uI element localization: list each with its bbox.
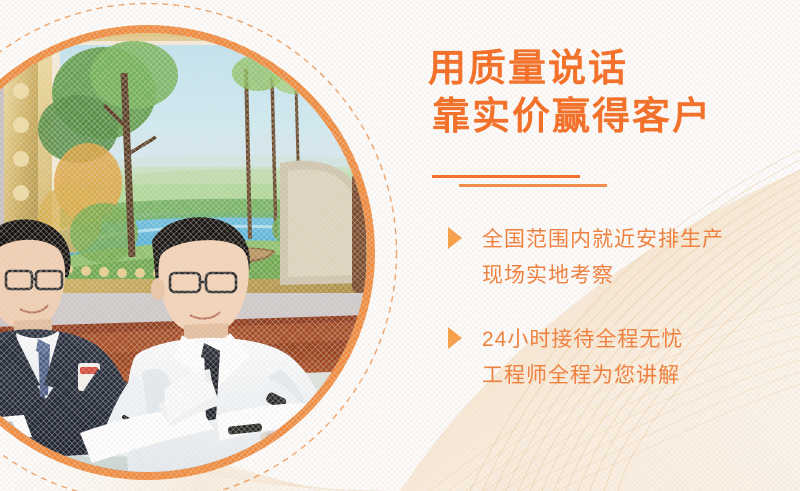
feature-line: 现场实地考察 bbox=[482, 258, 800, 294]
headline-block: 用质量说话 靠实价赢得客户 bbox=[428, 45, 800, 141]
feature-item: 全国范围内就近安排生产 现场实地考察 bbox=[430, 222, 800, 294]
feature-list: 全国范围内就近安排生产 现场实地考察 24小时接待全程无忧 工程师全程为您讲解 bbox=[430, 222, 800, 422]
feature-line: 24小时接待全程无忧 bbox=[482, 322, 800, 358]
divider-line-bottom bbox=[459, 184, 607, 187]
feature-line: 工程师全程为您讲解 bbox=[482, 358, 800, 394]
triangle-arrow-icon bbox=[448, 227, 462, 249]
headline-line-1: 用质量说话 bbox=[428, 45, 800, 93]
divider-line-top bbox=[432, 175, 580, 178]
promo-banner: 用质量说话 靠实价赢得客户 全国范围内就近安排生产 现场实地考察 24小时接待全… bbox=[0, 0, 800, 491]
feature-line: 全国范围内就近安排生产 bbox=[482, 222, 800, 258]
feature-text: 24小时接待全程无忧 工程师全程为您讲解 bbox=[482, 322, 800, 394]
triangle-arrow-icon bbox=[448, 327, 462, 349]
headline-line-2: 靠实价赢得客户 bbox=[432, 93, 800, 141]
content-column: 用质量说话 靠实价赢得客户 全国范围内就近安排生产 现场实地考察 24小时接待全… bbox=[420, 0, 800, 491]
feature-text: 全国范围内就近安排生产 现场实地考察 bbox=[482, 222, 800, 294]
headline-divider bbox=[432, 172, 632, 192]
feature-item: 24小时接待全程无忧 工程师全程为您讲解 bbox=[430, 322, 800, 394]
